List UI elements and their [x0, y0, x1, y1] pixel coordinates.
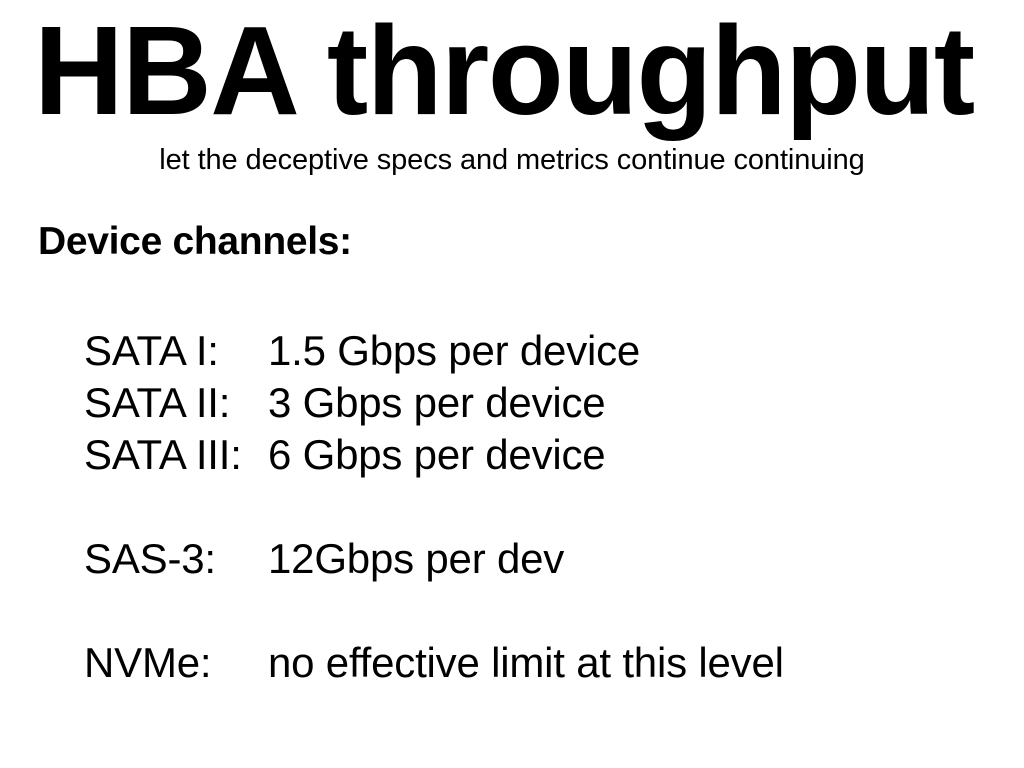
- list-spacer: [84, 585, 984, 637]
- slide-title: HBA throughput: [34, 8, 984, 134]
- channel-label: SATA II:: [84, 377, 268, 429]
- list-item: SATA I:1.5 Gbps per device: [84, 325, 984, 377]
- list-item: NVMe:no effective limit at this level: [84, 637, 984, 689]
- channel-label: SAS-3:: [84, 533, 268, 585]
- channel-value: 6 Gbps per device: [268, 429, 605, 481]
- channel-label: SATA III:: [84, 429, 268, 481]
- channel-value: no effective limit at this level: [268, 637, 784, 689]
- channel-value: 1.5 Gbps per device: [268, 325, 640, 377]
- slide: HBA throughput let the deceptive specs a…: [0, 0, 1024, 768]
- list-spacer: [84, 481, 984, 533]
- channel-label: SATA I:: [84, 325, 268, 377]
- list-item: SATA II:3 Gbps per device: [84, 377, 984, 429]
- slide-subtitle: let the deceptive specs and metrics cont…: [0, 146, 1024, 175]
- section-heading-device-channels: Device channels:: [38, 222, 352, 261]
- channel-value: 3 Gbps per device: [268, 377, 605, 429]
- channel-value: 12Gbps per dev: [268, 533, 564, 585]
- device-channel-list: SATA I:1.5 Gbps per device SATA II:3 Gbp…: [84, 325, 984, 689]
- list-item: SAS-3:12Gbps per dev: [84, 533, 984, 585]
- channel-label: NVMe:: [84, 637, 268, 689]
- list-item: SATA III:6 Gbps per device: [84, 429, 984, 481]
